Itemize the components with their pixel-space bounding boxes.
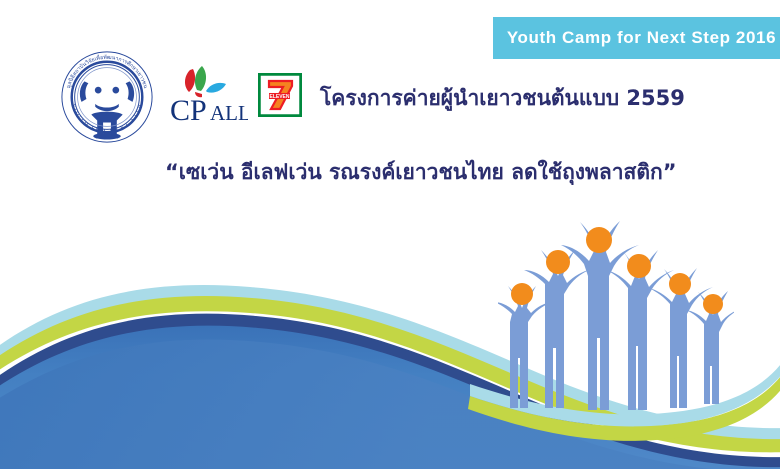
- seven-eleven-logo: ELEVEN: [248, 73, 302, 126]
- seven-eleven-wordmark: ELEVEN: [269, 94, 289, 100]
- header-block: มูลนิธิสถาบันวิจัยเพื่อพัฒนาการศึกษาเยาว…: [58, 48, 685, 151]
- person-figure: [561, 221, 639, 410]
- person-head: [546, 250, 570, 274]
- seal-ring-text-top: มูลนิธิสถาบันวิจัยเพื่อพัฒนาการศึกษาเยาว…: [66, 53, 148, 89]
- thai-slogan: “เซเว่น อีเลฟเว่น รณรงค์เยาวชนไทย ลดใช้ถ…: [165, 156, 677, 189]
- person-figure: [606, 250, 674, 410]
- youth-for-next-step-seal: มูลนิธิสถาบันวิจัยเพื่อพัฒนาการศึกษาเยาว…: [58, 48, 156, 151]
- person-figure: [498, 283, 552, 408]
- person-head: [669, 273, 691, 295]
- cpall-logo: CP ALL: [156, 64, 248, 135]
- cpall-wordmark-big: CP: [170, 94, 207, 126]
- raised-hands-people-graphic: [498, 218, 734, 418]
- person-figure: [649, 268, 713, 408]
- cpall-leaves: [185, 66, 226, 97]
- person-head: [627, 254, 651, 278]
- logo-row: มูลนิธิสถาบันวิจัยเพื่อพัฒนาการศึกษาเยาว…: [58, 48, 685, 151]
- person-figure: [686, 291, 734, 404]
- thai-title: โครงการค่ายผู้นำเยาวชนต้นแบบ 2559: [320, 82, 685, 115]
- title-strip-text: Youth Camp for Next Step 2016: [497, 28, 776, 48]
- cpall-wordmark-small: ALL: [210, 101, 248, 125]
- header-text-column: โครงการค่ายผู้นำเยาวชนต้นแบบ 2559: [306, 82, 685, 118]
- person-head: [511, 283, 533, 305]
- banner-root: Youth Camp for Next Step 2016 มูลนิธิสถา…: [0, 0, 780, 469]
- person-head: [586, 227, 612, 253]
- person-head: [703, 294, 723, 314]
- person-figure: [524, 250, 592, 408]
